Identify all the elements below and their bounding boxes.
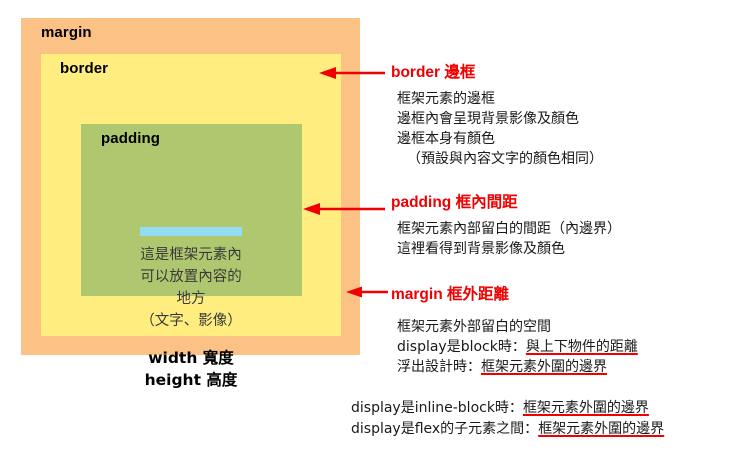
- border-annotation-line-4: （預設與內容文字的顏色相同）: [397, 149, 603, 169]
- margin-block-prefix: display是block時：: [397, 339, 526, 355]
- border-annotation-line-2: 邊框內會呈現背景影像及顏色: [397, 109, 603, 129]
- border-annotation-body: 框架元素的邊框 邊框內會呈現背景影像及顏色 邊框本身有顏色 （預設與內容文字的顏…: [391, 89, 603, 169]
- extra-flex-underlined: 框架元素外圍的邊界: [538, 421, 664, 437]
- content-line-1: 這是框架元素內: [140, 247, 242, 263]
- border-annotation-line-1: 框架元素的邊框: [397, 89, 603, 109]
- margin-annotation: margin 框外距離 框架元素外部留白的空間 display是block時：與…: [391, 282, 638, 377]
- margin-layer: margin border padding 這是框架元素內 可以放置內容的地方 …: [21, 18, 360, 355]
- padding-annotation-heading: padding 框內間距: [391, 190, 621, 212]
- extra-flex-prefix: display是flex的子元素之間：: [351, 421, 538, 437]
- content-height-label: height 高度: [140, 369, 242, 391]
- padding-annotation-line-2: 這裡看得到背景影像及顏色: [397, 239, 621, 259]
- content-line-3: （文字、影像）: [140, 313, 242, 329]
- padding-annotation: padding 框內間距 框架元素內部留白的間距（內邊界） 這裡看得到背景影像及…: [391, 190, 621, 259]
- extra-line-inline-block: display是inline-block時：框架元素外圍的邊界: [351, 398, 664, 419]
- content-width-label: width 寬度: [140, 347, 242, 369]
- content-layer: 這是框架元素內 可以放置內容的地方 （文字、影像） width 寬度 heigh…: [140, 227, 242, 236]
- extra-inline-underlined: 框架元素外圍的邊界: [523, 400, 649, 416]
- padding-annotation-body: 框架元素內部留白的間距（內邊界） 這裡看得到背景影像及顏色: [391, 219, 621, 259]
- border-annotation-line-3: 邊框本身有顏色: [397, 129, 603, 149]
- padding-layer-label: padding: [101, 130, 160, 147]
- margin-annotation-line-block: display是block時：與上下物件的距離: [397, 337, 638, 357]
- margin-annotation-line-1: 框架元素外部留白的空間: [397, 317, 638, 337]
- border-layer: border padding 這是框架元素內 可以放置內容的地方 （文字、影像）…: [41, 54, 341, 336]
- margin-annotation-line-float: 浮出設計時：框架元素外圍的邊界: [397, 357, 638, 377]
- extra-inline-prefix: display是inline-block時：: [351, 400, 523, 416]
- extra-line-flex: display是flex的子元素之間：框架元素外圍的邊界: [351, 419, 664, 440]
- margin-layer-label: margin: [41, 24, 92, 41]
- margin-annotation-body: 框架元素外部留白的空間 display是block時：與上下物件的距離 浮出設計…: [391, 317, 638, 377]
- margin-annotation-heading: margin 框外距離: [391, 282, 638, 304]
- extra-annotation: display是inline-block時：框架元素外圍的邊界 display是…: [351, 398, 664, 440]
- content-box-text: 這是框架元素內 可以放置內容的地方 （文字、影像） width 寬度 heigh…: [140, 244, 242, 391]
- margin-block-underlined: 與上下物件的距離: [526, 339, 638, 355]
- content-line-2: 可以放置內容的地方: [140, 269, 242, 307]
- border-annotation: border 邊框 框架元素的邊框 邊框內會呈現背景影像及顏色 邊框本身有顏色 …: [391, 60, 603, 169]
- border-annotation-heading: border 邊框: [391, 60, 603, 82]
- box-model-diagram: margin border padding 這是框架元素內 可以放置內容的地方 …: [21, 18, 360, 355]
- margin-float-underlined: 框架元素外圍的邊界: [481, 359, 607, 375]
- padding-layer: padding 這是框架元素內 可以放置內容的地方 （文字、影像） width …: [81, 124, 302, 296]
- padding-annotation-line-1: 框架元素內部留白的間距（內邊界）: [397, 219, 621, 239]
- border-layer-label: border: [60, 60, 108, 77]
- margin-float-prefix: 浮出設計時：: [397, 359, 481, 375]
